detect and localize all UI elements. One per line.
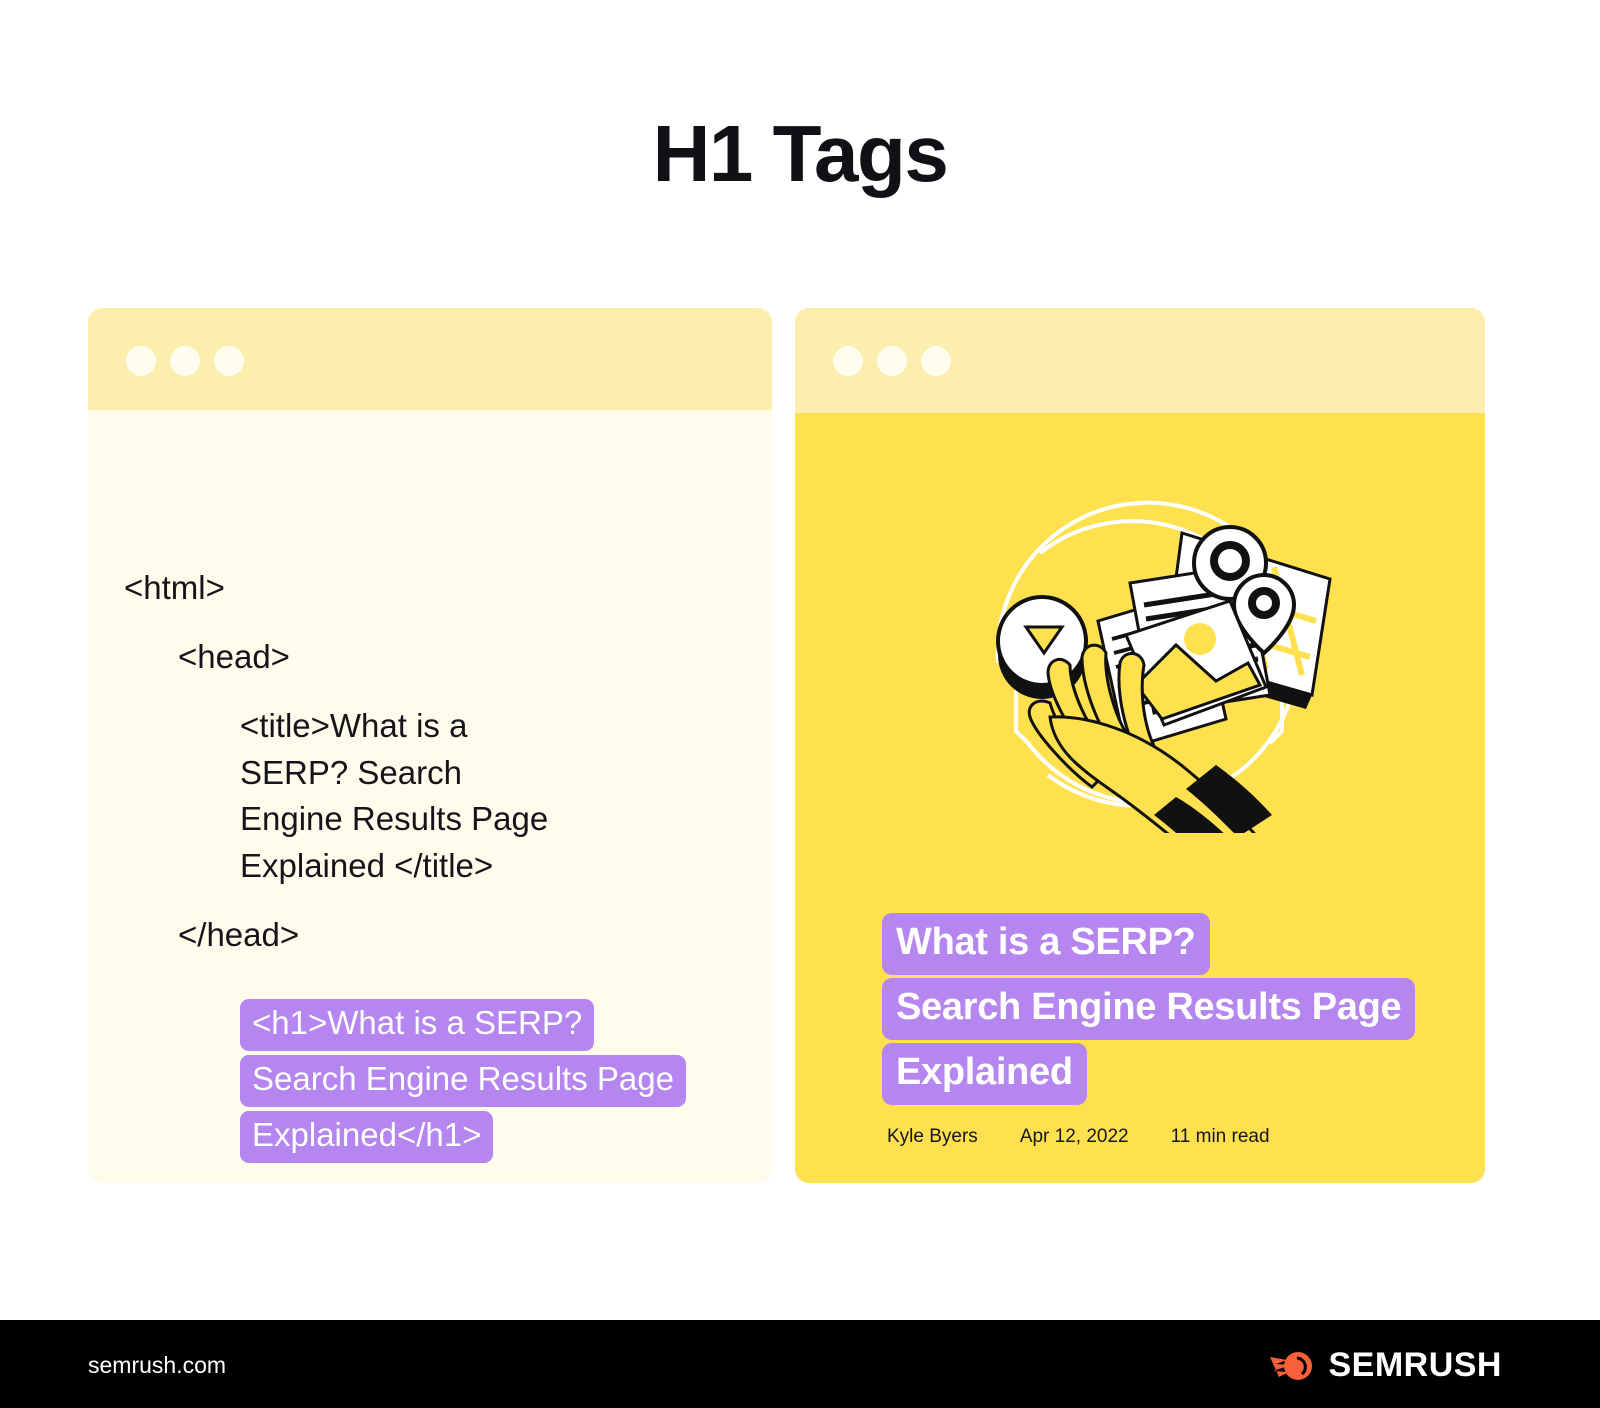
maximize-dot-icon[interactable] [214,346,244,376]
code-spacer [88,681,772,703]
close-dot-icon[interactable] [126,346,156,376]
left-browser-window-panel: <html> <head> <title>What is a SERP? Sea… [88,308,772,1183]
code-line-head-open: <head> [88,634,772,681]
code-spacer [88,890,772,912]
footer-bar: semrush.com SEMRUSH [0,1320,1600,1408]
h1-tag-highlight-group: <h1>What is a SERP? Search Engine Result… [88,999,772,1163]
code-spacer [88,612,772,634]
semrush-wordmark: SEMRUSH [1328,1346,1502,1385]
minimize-dot-icon[interactable] [877,346,907,376]
h1-highlight-line-3: Explained</h1> [240,1111,493,1163]
article-byline: Kyle Byers Apr 12, 2022 11 min read [887,1126,1270,1148]
hero-illustration [795,413,1485,833]
byline-author: Kyle Byers [887,1126,978,1148]
right-window-titlebar [795,308,1485,413]
h1-highlight-line-2: Search Engine Results Page [240,1055,686,1107]
right-window-controls [833,346,951,376]
byline-read-time: 11 min read [1171,1126,1270,1148]
page-title: H1 Tags [0,108,1600,200]
semrush-comet-logo-icon [1269,1347,1315,1385]
semrush-brand-lockup: SEMRUSH [1269,1346,1502,1385]
right-browser-window-panel: What is a SERP? Search Engine Results Pa… [795,308,1485,1183]
article-heading-group: What is a SERP? Search Engine Results Pa… [882,913,1415,1108]
maximize-dot-icon[interactable] [921,346,951,376]
html-code-sample: <html> <head> <title>What is a SERP? Sea… [88,410,772,1167]
infographic-page: H1 Tags <html> <head> <title>What is a S… [0,0,1600,1408]
left-window-titlebar [88,308,772,410]
article-heading-line-3: Explained [882,1043,1087,1105]
left-window-controls [126,346,244,376]
code-line-head-close: </head> [88,912,772,959]
close-dot-icon[interactable] [833,346,863,376]
byline-date: Apr 12, 2022 [1020,1126,1129,1148]
hand-holding-documents-map-pin-icon [930,413,1350,833]
h1-highlight-line-1: <h1>What is a SERP? [240,999,594,1051]
code-line-html-open: <html> [88,565,772,612]
minimize-dot-icon[interactable] [170,346,200,376]
footer-website-url: semrush.com [88,1352,226,1379]
code-line-title-tag: <title>What is a SERP? Search Engine Res… [88,703,558,890]
article-heading-line-2: Search Engine Results Page [882,978,1415,1040]
article-heading-line-1: What is a SERP? [882,913,1210,975]
